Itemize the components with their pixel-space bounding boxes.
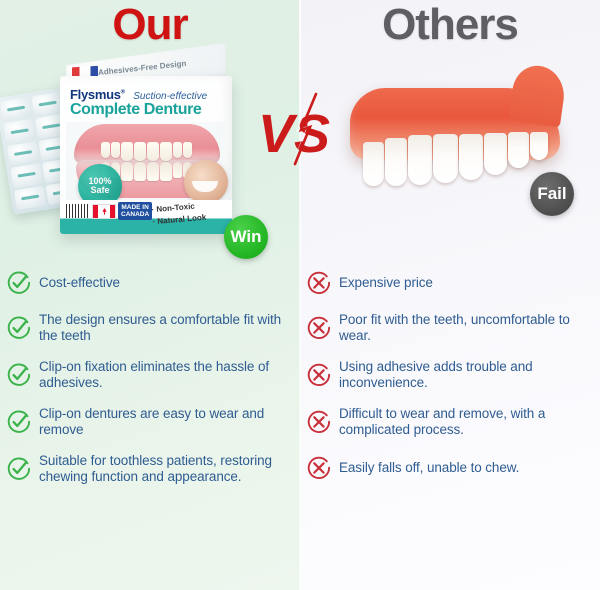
cross-circle-icon — [306, 315, 332, 341]
product-box: Adhesives-Free Design Flysmus® Suction-e… — [52, 54, 237, 239]
tooth — [121, 142, 133, 161]
list-item-label: The design ensures a comfortable fit wit… — [39, 312, 292, 345]
tooth — [408, 135, 432, 185]
made-in-line-2: CANADA — [121, 211, 149, 218]
canada-flag-icon — [92, 204, 116, 219]
made-in-line-1: MADE IN — [121, 204, 149, 211]
list-item-label: Expensive price — [339, 275, 433, 291]
list-item: Cost-effective — [6, 268, 292, 298]
tooth — [147, 142, 159, 161]
list-item-label: Poor fit with the teeth, uncomfortable t… — [339, 312, 592, 345]
brand-name: Flysmus® — [70, 87, 125, 102]
our-panel: Our — [0, 0, 300, 590]
others-heading: Others — [300, 2, 600, 48]
blister-cell — [14, 185, 47, 210]
list-item-label: Clip-on dentures are easy to wear and re… — [39, 406, 292, 439]
list-item-label: Using adhesive adds trouble and inconven… — [339, 359, 592, 392]
list-item: Difficult to wear and remove, with a com… — [306, 406, 592, 439]
seal-label: Safe — [90, 186, 109, 195]
tooth — [134, 142, 146, 161]
cross-circle-icon — [306, 362, 332, 388]
registered-mark: ® — [121, 90, 125, 96]
tooth — [134, 162, 146, 181]
tooth — [363, 142, 384, 186]
check-circle-icon — [6, 362, 32, 388]
list-item-label: Difficult to wear and remove, with a com… — [339, 406, 592, 439]
cross-circle-icon — [306, 455, 332, 481]
smiling-person-photo — [184, 160, 228, 204]
list-item-label: Suitable for toothless patients, restori… — [39, 453, 292, 486]
blister-cell — [10, 163, 43, 188]
tooth — [508, 132, 529, 168]
others-feature-list: Expensive price Poor fit with the teeth,… — [300, 268, 600, 497]
tooth — [111, 142, 120, 158]
tooth — [183, 142, 192, 158]
fail-badge: Fail — [530, 172, 574, 216]
list-item-label: Cost-effective — [39, 275, 120, 291]
others-panel: Others — [300, 0, 600, 590]
check-circle-icon — [6, 315, 32, 341]
list-item: Clip-on dentures are easy to wear and re… — [6, 406, 292, 439]
tooth — [160, 162, 172, 181]
blister-cell — [7, 141, 40, 166]
made-in-canada-badge: MADE IN CANADA — [92, 202, 152, 220]
barcode-icon — [66, 204, 88, 218]
blister-cell — [3, 119, 36, 144]
list-item: Expensive price — [306, 268, 592, 298]
list-item-label: Clip-on fixation eliminates the hassle o… — [39, 359, 292, 392]
vs-badge: VS — [256, 92, 348, 168]
tooth — [173, 162, 182, 178]
tooth — [160, 142, 172, 161]
tooth — [121, 162, 133, 181]
list-item-label: Easily falls off, unable to chew. — [339, 460, 519, 476]
tooth — [101, 142, 110, 158]
cross-circle-icon — [306, 270, 332, 296]
tooth — [530, 132, 548, 160]
tooth — [385, 138, 407, 186]
win-badge: Win — [224, 215, 268, 259]
cross-circle-icon — [306, 409, 332, 435]
product-title: Complete Denture — [70, 101, 201, 119]
check-circle-icon — [6, 409, 32, 435]
check-circle-icon — [6, 270, 32, 296]
tooth — [484, 133, 507, 175]
check-circle-icon — [6, 456, 32, 482]
our-feature-list: Cost-effective The design ensures a comf… — [0, 268, 300, 500]
product-bullets: · Non-Toxic · Natural Look — [151, 200, 207, 229]
tooth — [459, 134, 483, 180]
competitor-denture-veneer — [350, 88, 560, 198]
product-box-footer: MADE IN CANADA · Non-Toxic · Natural Loo… — [60, 200, 232, 234]
adhesive-free-text: Adhesives-Free Design — [98, 59, 187, 77]
list-item: Using adhesive adds trouble and inconven… — [306, 359, 592, 392]
list-item: Easily falls off, unable to chew. — [306, 453, 592, 483]
list-item: Poor fit with the teeth, uncomfortable t… — [306, 312, 592, 345]
blister-cell — [0, 97, 33, 122]
tooth — [433, 134, 458, 183]
our-heading: Our — [0, 2, 300, 48]
veneer-tooth-row — [356, 130, 554, 190]
vs-label: VS — [258, 104, 330, 164]
tooth — [147, 162, 159, 181]
product-box-front: Flysmus® Suction-effective Complete Dent… — [60, 76, 232, 234]
upper-tooth-row — [66, 142, 226, 162]
comparison-infographic: Our — [0, 0, 600, 590]
made-in-text: MADE IN CANADA — [118, 202, 152, 220]
list-item: Suitable for toothless patients, restori… — [6, 453, 292, 486]
list-item: Clip-on fixation eliminates the hassle o… — [6, 359, 292, 392]
tooth — [173, 142, 182, 158]
brand-word: Flysmus — [70, 87, 121, 102]
list-item: The design ensures a comfortable fit wit… — [6, 312, 292, 345]
